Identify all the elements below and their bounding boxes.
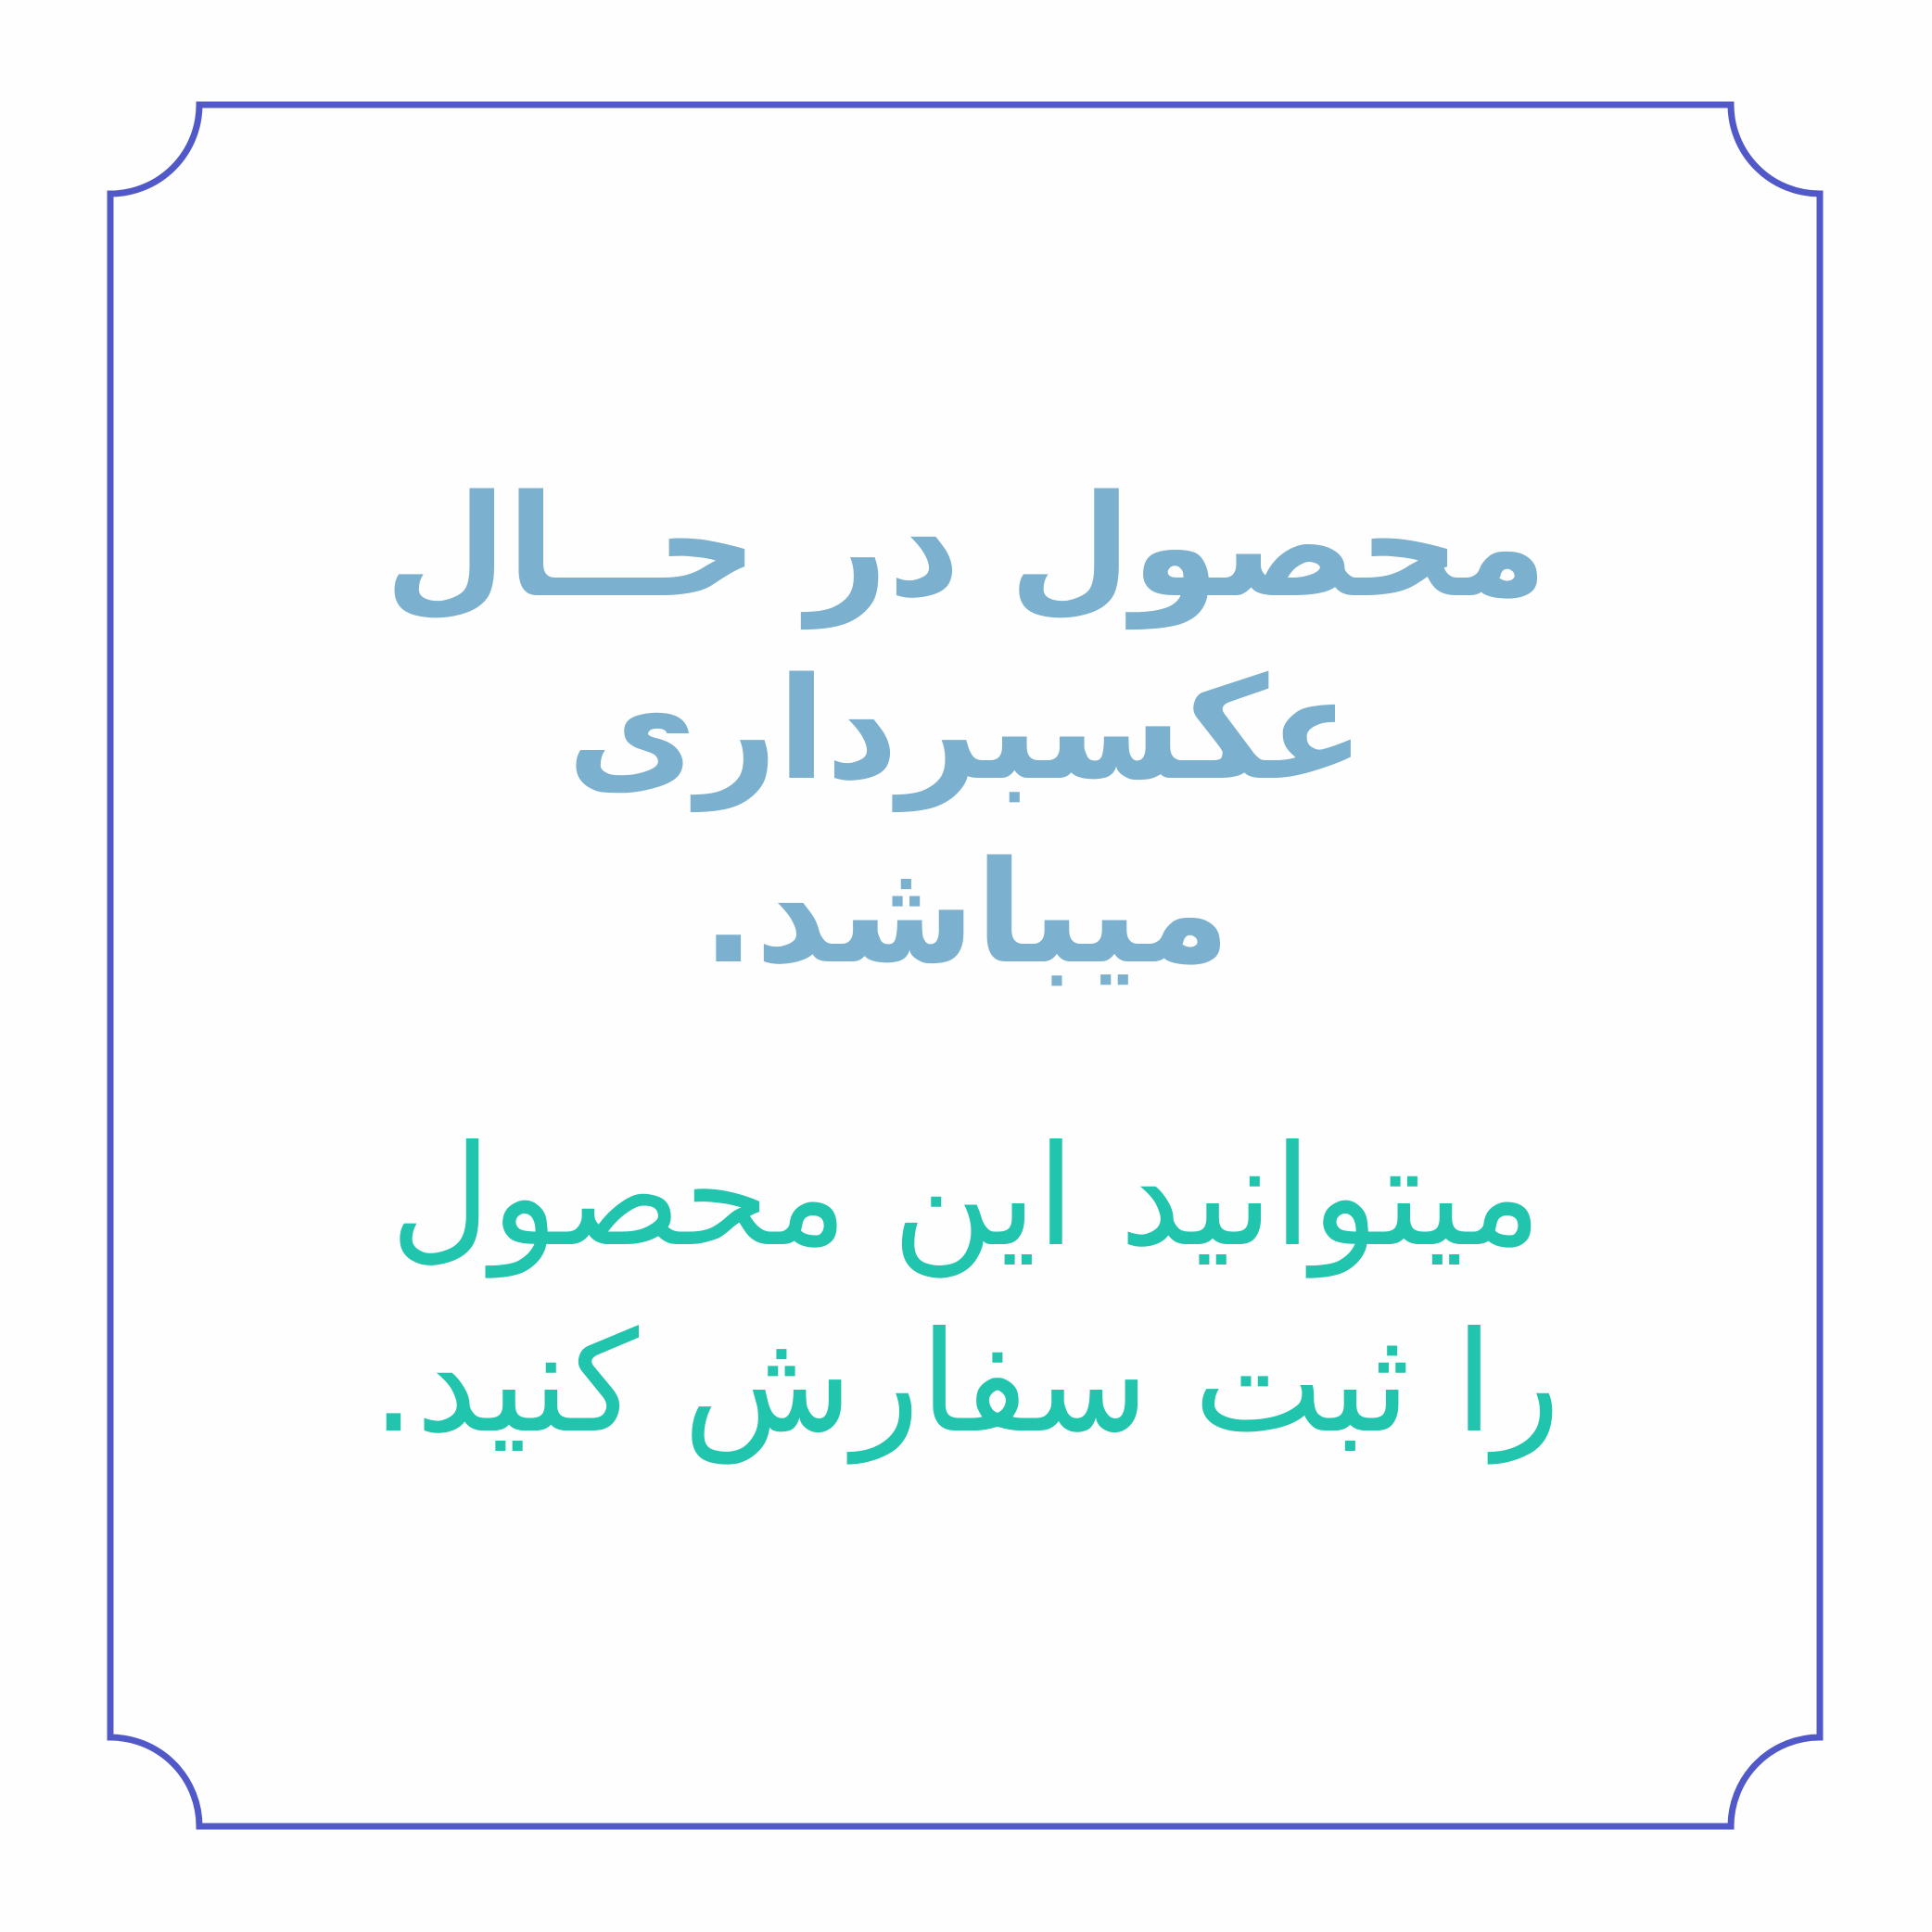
placeholder-card: محصول در حــال عکسبرداری میباشد. میتوانی… bbox=[0, 0, 1932, 1932]
message-stack: محصول در حــال عکسبرداری میباشد. میتوانی… bbox=[0, 0, 1932, 1932]
status-message: محصول در حــال عکسبرداری میباشد. bbox=[280, 455, 1652, 1005]
order-message: میتوانید این محصول را ثبت سفارش کنید. bbox=[280, 1104, 1652, 1477]
